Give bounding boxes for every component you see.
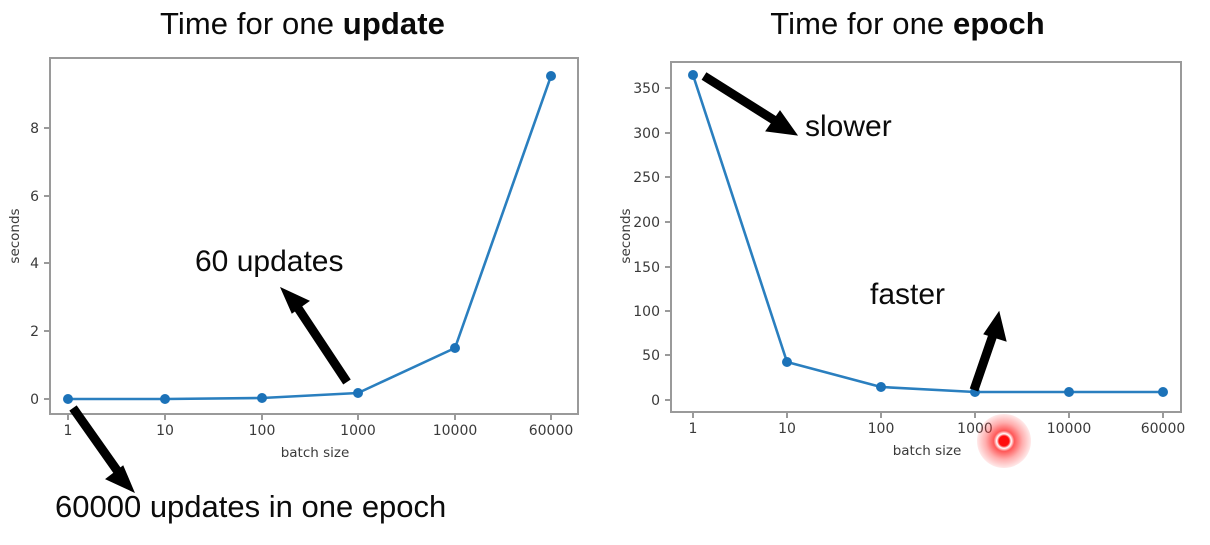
annotation-label-60-updates: 60 updates [195, 245, 343, 279]
y-tick-label: 250 [633, 170, 660, 186]
data-point [160, 394, 170, 404]
plot-area-time-per-epoch: 0 50 100 150 200 250 300 350 seconds 1 [605, 0, 1210, 545]
x-tick-label: 1000 [340, 423, 376, 439]
data-point [450, 343, 460, 353]
x-tick-label: 10 [778, 421, 796, 437]
annotation-arrow-faster [974, 312, 1006, 390]
annotation-label-faster: faster [870, 278, 945, 312]
axis-frame-left [50, 58, 578, 414]
y-tick-label: 4 [30, 256, 39, 272]
x-tick-label: 10 [156, 423, 174, 439]
data-point [1064, 387, 1074, 397]
slide-canvas: Time for one update 0 2 4 6 8 seconds [0, 0, 1210, 545]
x-tick-label: 1000 [957, 421, 993, 437]
x-tick-label: 10000 [1047, 421, 1092, 437]
y-tick-label: 0 [651, 393, 660, 409]
x-tick-label: 60000 [1141, 421, 1186, 437]
data-point [353, 388, 363, 398]
series-line-epoch [693, 75, 1163, 392]
y-tick-labels-left: 0 2 4 6 8 [30, 121, 39, 408]
annotation-label-slower: slower [805, 110, 892, 144]
x-tick-label: 60000 [529, 423, 574, 439]
x-tick-label: 100 [868, 421, 895, 437]
y-tick-label: 150 [633, 260, 660, 276]
y-tick-label: 200 [633, 215, 660, 231]
chart-panel-time-per-epoch: Time for one epoch 0 50 100 150 20 [605, 0, 1210, 545]
data-point [688, 70, 698, 80]
data-point [876, 382, 886, 392]
annotation-arrow-slower [704, 76, 797, 135]
x-tick-label: 1 [64, 423, 73, 439]
x-tick-label: 1 [689, 421, 698, 437]
data-point [546, 71, 556, 81]
y-tick-label: 50 [642, 348, 660, 364]
x-tick-labels-left: 1 10 100 1000 10000 60000 [64, 423, 574, 439]
annotation-label-60000-updates: 60000 updates in one epoch [55, 490, 446, 524]
data-point [1158, 387, 1168, 397]
data-point [63, 394, 73, 404]
y-tick-label: 300 [633, 126, 660, 142]
data-point [257, 393, 267, 403]
x-axis-title-right: batch size [893, 443, 962, 459]
annotation-arrow-60-updates [281, 288, 347, 382]
x-tick-label: 10000 [433, 423, 478, 439]
series-line-update [68, 76, 551, 399]
chart-panel-time-per-update: Time for one update 0 2 4 6 8 seconds [0, 0, 605, 545]
y-axis-title-left: seconds [7, 208, 23, 263]
series-markers-epoch [688, 70, 1168, 397]
y-tick-label: 8 [30, 121, 39, 137]
y-tick-label: 6 [30, 189, 39, 205]
y-tick-label: 2 [30, 324, 39, 340]
y-axis-title-right: seconds [618, 208, 634, 263]
x-axis-title-left: batch size [281, 445, 350, 461]
x-tick-labels-right: 1 10 100 1000 10000 60000 [689, 421, 1186, 437]
annotation-arrow-60000-updates [73, 408, 134, 492]
x-tick-label: 100 [249, 423, 276, 439]
axis-frame-right [671, 62, 1181, 412]
data-point [782, 357, 792, 367]
y-tick-label: 350 [633, 81, 660, 97]
y-tick-label: 100 [633, 304, 660, 320]
series-markers-update [63, 71, 556, 404]
y-tick-labels-right: 0 50 100 150 200 250 300 350 [633, 81, 660, 409]
y-tick-label: 0 [30, 392, 39, 408]
